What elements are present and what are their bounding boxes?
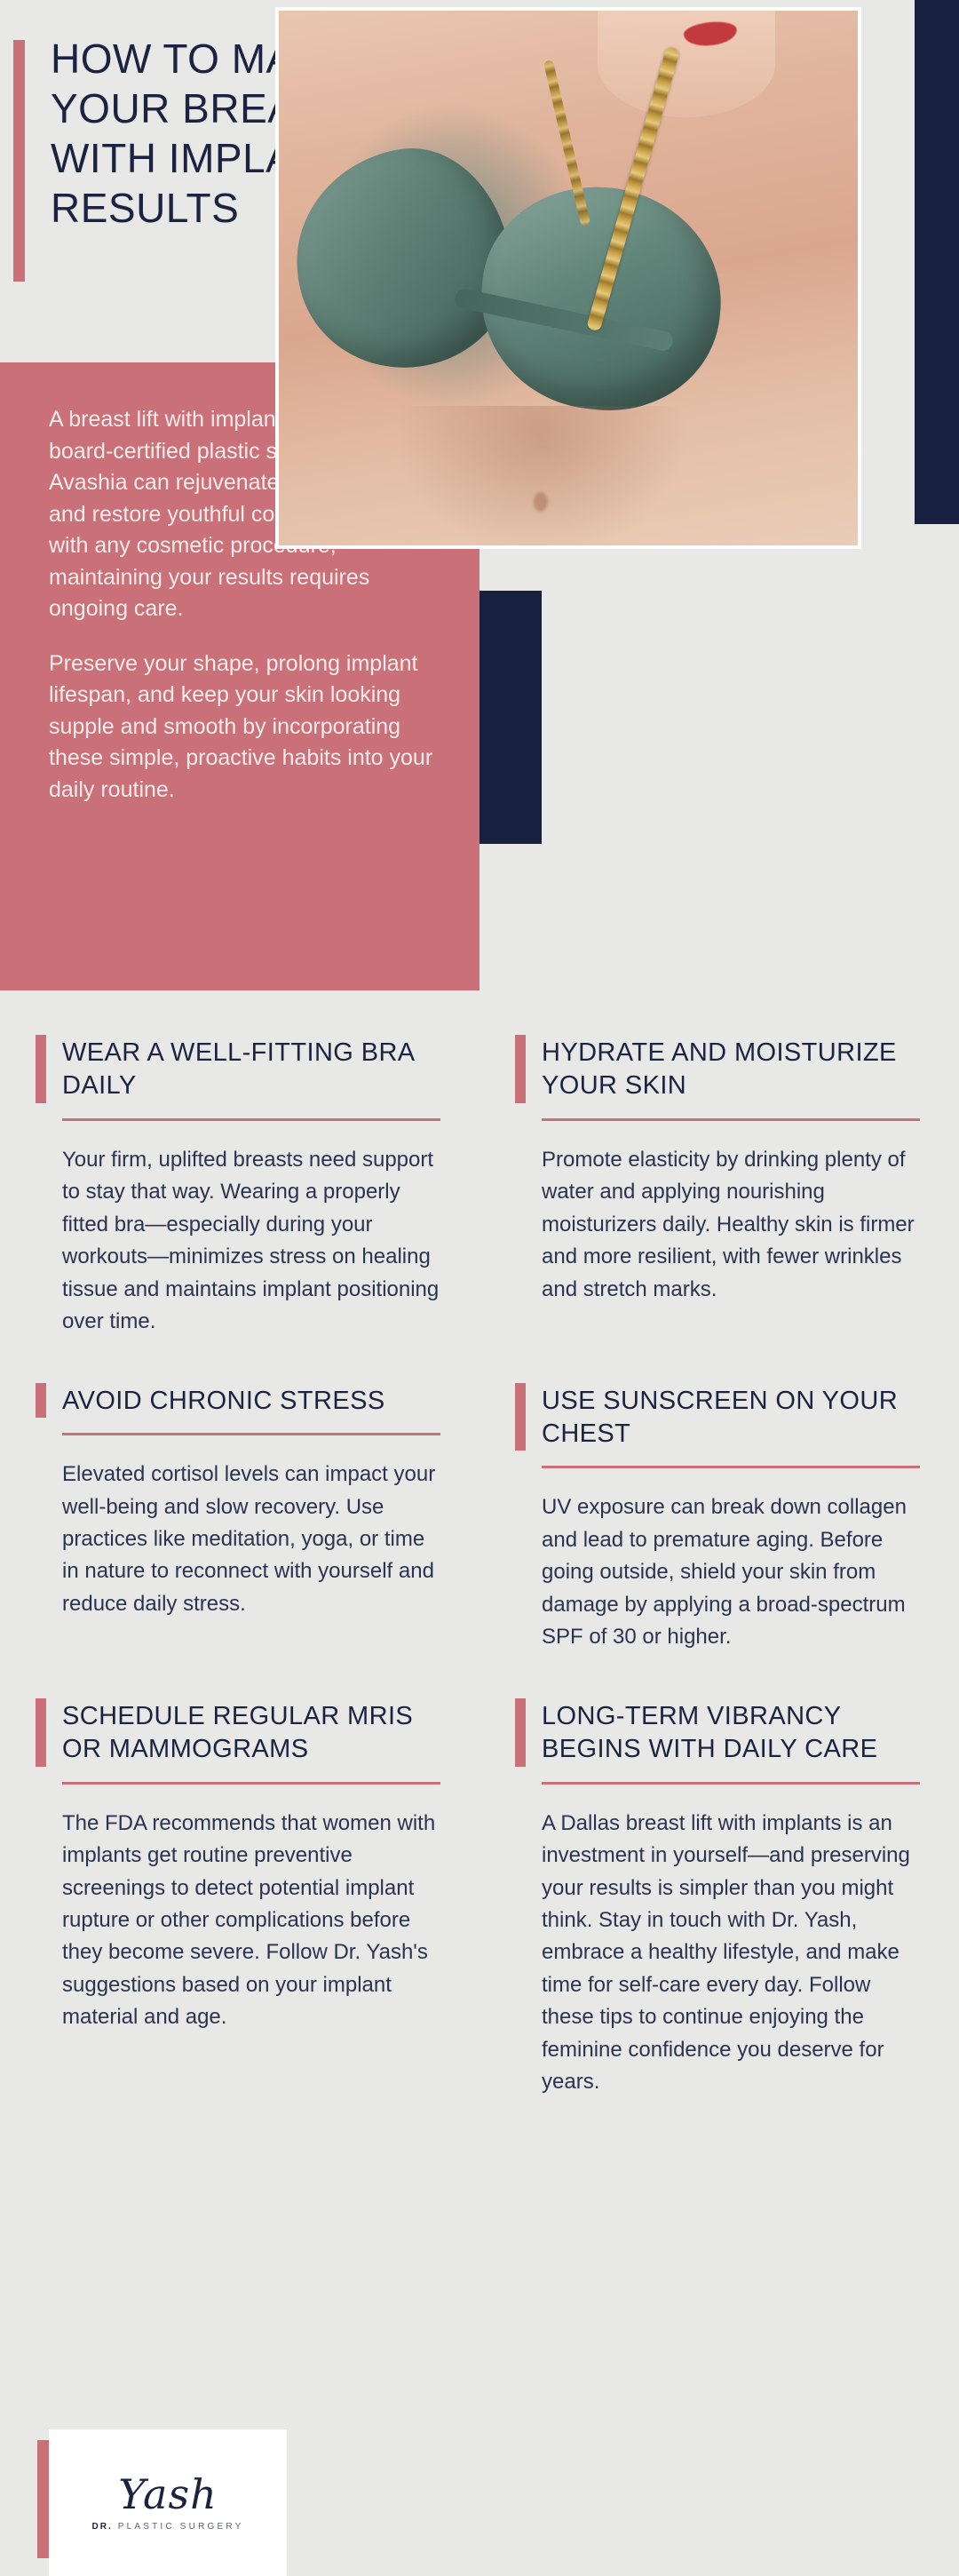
tip-accent-bar xyxy=(36,1383,46,1418)
tip-header: HYDRATE AND MOISTURIZE YOUR SKIN xyxy=(515,1035,920,1103)
tip-divider xyxy=(542,1782,920,1785)
tip-body: UV exposure can break down collagen and … xyxy=(542,1491,920,1653)
logo-tagline: DR. PLASTIC SURGERY xyxy=(92,2522,244,2532)
brand-logo: Yash DR. PLASTIC SURGERY xyxy=(49,2429,287,2576)
tip-accent-bar xyxy=(36,1698,46,1767)
intro-paragraph-2: Preserve your shape, prolong implant lif… xyxy=(49,648,440,807)
tip-divider xyxy=(62,1433,440,1435)
tip-divider xyxy=(542,1118,920,1121)
tip-row: SCHEDULE REGULAR MRIS OR MAMMOGRAMS The … xyxy=(0,1654,959,2099)
tip-body: The FDA recommends that women with impla… xyxy=(62,1808,440,2034)
tip-title: USE SUNSCREEN ON YOUR CHEST xyxy=(542,1383,920,1451)
tip-row: WEAR A WELL-FITTING BRA DAILY Your firm,… xyxy=(0,990,959,1339)
footer-accent-bar xyxy=(37,2440,49,2558)
tip-card-avoid-stress: AVOID CHRONIC STRESS Elevated cortisol l… xyxy=(0,1339,479,1654)
tips-section: WEAR A WELL-FITTING BRA DAILY Your firm,… xyxy=(0,990,959,2099)
tip-body: Your firm, uplifted breasts need support… xyxy=(62,1144,440,1339)
infographic-page: HOW TO MAINTAIN YOUR BREAST LIFT WITH IM… xyxy=(0,0,959,2576)
navy-right-accent xyxy=(915,0,959,524)
tip-card-long-term-vibrancy: LONG-TERM VIBRANCY BEGINS WITH DAILY CAR… xyxy=(479,1654,959,2099)
logo-specialty: PLASTIC SURGERY xyxy=(118,2522,244,2532)
tip-card-wear-bra: WEAR A WELL-FITTING BRA DAILY Your firm,… xyxy=(0,990,479,1339)
tip-header: SCHEDULE REGULAR MRIS OR MAMMOGRAMS xyxy=(36,1698,440,1767)
tip-card-sunscreen: USE SUNSCREEN ON YOUR CHEST UV exposure … xyxy=(479,1339,959,1654)
footer-section: Yash DR. PLASTIC SURGERY xyxy=(0,2429,959,2576)
tip-accent-bar xyxy=(36,1035,46,1103)
tip-body: Promote elasticity by drinking plenty of… xyxy=(542,1144,920,1306)
tip-title: LONG-TERM VIBRANCY BEGINS WITH DAILY CAR… xyxy=(542,1698,920,1767)
tip-card-screenings: SCHEDULE REGULAR MRIS OR MAMMOGRAMS The … xyxy=(0,1654,479,2099)
photo-torso-shading xyxy=(394,406,687,549)
tip-row: AVOID CHRONIC STRESS Elevated cortisol l… xyxy=(0,1339,959,1654)
logo-prefix: DR. xyxy=(92,2522,113,2532)
tip-card-hydrate: HYDRATE AND MOISTURIZE YOUR SKIN Promote… xyxy=(479,990,959,1339)
tip-body: Elevated cortisol levels can impact your… xyxy=(62,1459,440,1620)
tip-title: HYDRATE AND MOISTURIZE YOUR SKIN xyxy=(542,1035,920,1103)
tip-title: AVOID CHRONIC STRESS xyxy=(62,1383,385,1418)
hero-section: HOW TO MAINTAIN YOUR BREAST LIFT WITH IM… xyxy=(0,0,959,977)
tip-body: A Dallas breast lift with implants is an… xyxy=(542,1808,920,2099)
tip-divider xyxy=(62,1118,440,1121)
tip-header: LONG-TERM VIBRANCY BEGINS WITH DAILY CAR… xyxy=(515,1698,920,1767)
logo-wordmark: Yash xyxy=(118,2474,217,2515)
tip-header: WEAR A WELL-FITTING BRA DAILY xyxy=(36,1035,440,1103)
photo-chin-detail xyxy=(598,11,775,117)
hero-photo-image xyxy=(279,11,858,545)
title-accent-bar xyxy=(13,40,25,282)
photo-navel-detail xyxy=(534,492,548,512)
tip-title: WEAR A WELL-FITTING BRA DAILY xyxy=(62,1035,440,1103)
hero-photo xyxy=(275,7,861,549)
tip-accent-bar xyxy=(515,1383,526,1451)
tip-header: USE SUNSCREEN ON YOUR CHEST xyxy=(515,1383,920,1451)
tip-divider xyxy=(62,1782,440,1785)
tip-title: SCHEDULE REGULAR MRIS OR MAMMOGRAMS xyxy=(62,1698,440,1767)
tip-accent-bar xyxy=(515,1035,526,1103)
tip-accent-bar xyxy=(515,1698,526,1767)
tip-header: AVOID CHRONIC STRESS xyxy=(36,1383,440,1418)
tip-divider xyxy=(542,1466,920,1468)
